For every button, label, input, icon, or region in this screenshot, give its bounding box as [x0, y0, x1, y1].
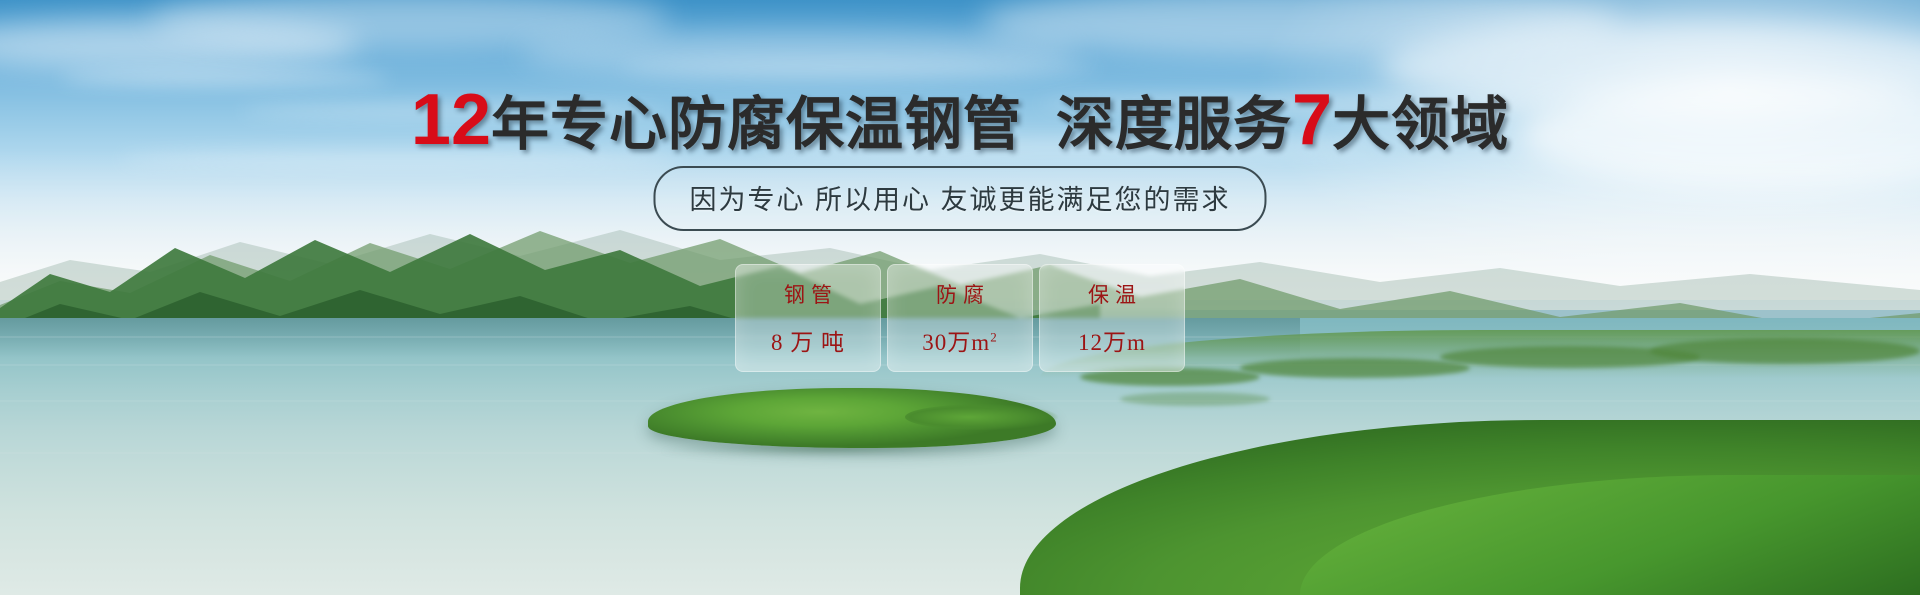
stat-card-value-text: 30万m	[922, 330, 990, 355]
marsh-patch	[1240, 358, 1470, 378]
headline-years-number: 12	[411, 80, 491, 160]
headline-part-three: 大领域	[1332, 92, 1509, 157]
stat-card-value-text: 8 万 吨	[771, 330, 845, 355]
cloud-streak	[620, 62, 1100, 75]
stat-card-group: 钢管 8 万 吨 防腐 30万m2 保温 12万m	[735, 264, 1185, 372]
grass-island-tail	[905, 404, 1065, 430]
headline-fields-number: 7	[1292, 80, 1332, 160]
stat-card-label: 防腐	[930, 279, 990, 309]
headline-part-two: 深度服务	[1056, 92, 1292, 157]
stat-card-insulation[interactable]: 保温 12万m	[1039, 264, 1185, 372]
banner-headline: 12年专心防腐保温钢管深度服务7大领域	[0, 84, 1920, 156]
headline-part-one: 年专心防腐保温钢管	[491, 92, 1022, 157]
marsh-patch	[1120, 392, 1270, 406]
stat-card-label: 钢管	[778, 279, 838, 309]
stat-card-value: 8 万 吨	[771, 323, 845, 357]
banner-subtitle-pill: 因为专心 所以用心 友诚更能满足您的需求	[653, 166, 1266, 231]
stat-card-value: 30万m2	[922, 323, 997, 357]
stat-card-value: 12万m	[1078, 323, 1146, 357]
stat-card-steel-pipe[interactable]: 钢管 8 万 吨	[735, 264, 881, 372]
stat-card-value-sup: 2	[990, 329, 998, 344]
promo-banner: 12年专心防腐保温钢管深度服务7大领域 因为专心 所以用心 友诚更能满足您的需求…	[0, 0, 1920, 595]
stat-card-anticorrosion[interactable]: 防腐 30万m2	[887, 264, 1033, 372]
stat-card-label: 保温	[1082, 279, 1142, 309]
marsh-patch	[1650, 338, 1920, 364]
stat-card-value-text: 12万m	[1078, 330, 1146, 355]
